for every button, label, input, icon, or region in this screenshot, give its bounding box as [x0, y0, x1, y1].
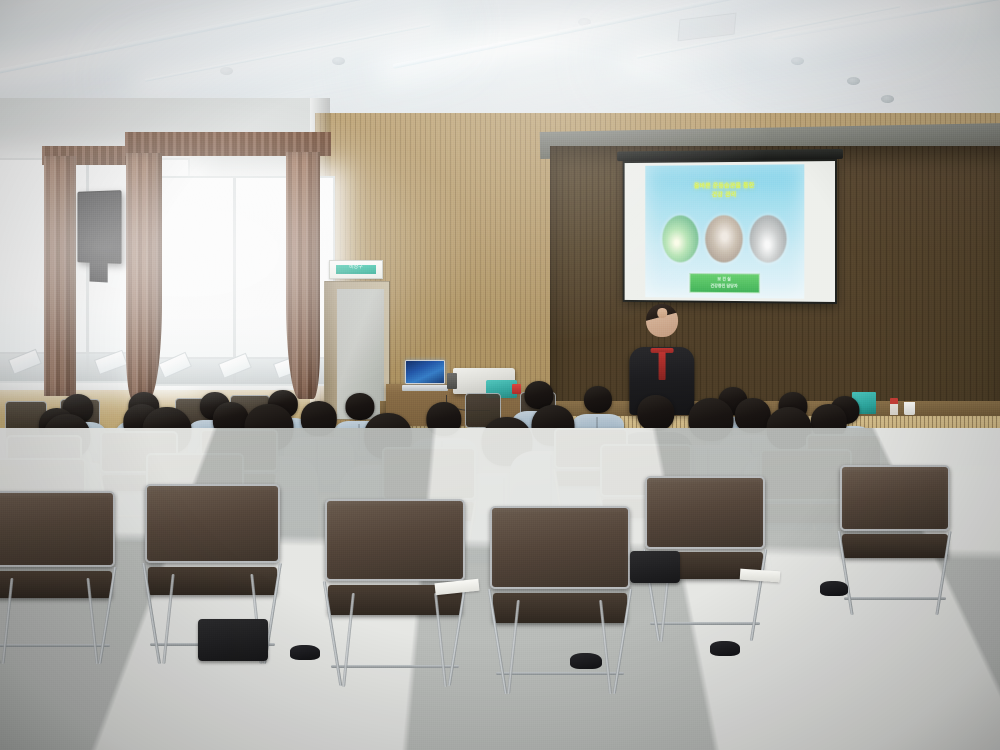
ceiling-speaker-icon [220, 67, 233, 75]
presenter-placket [659, 352, 666, 380]
curtain-panel [286, 152, 320, 400]
curtain-panel [126, 153, 162, 401]
folding-chair[interactable] [0, 491, 115, 664]
oval-image-center [706, 215, 743, 263]
auditorium-photo: 비상구 올바른 운동습관을 통한 건강 관리 보 건 실 건강증진 담당자 [0, 0, 1000, 750]
chair-seat [842, 534, 948, 558]
chair-back [145, 484, 280, 563]
chair-seat [148, 567, 278, 596]
chair-rail [764, 554, 849, 557]
person-head [689, 398, 734, 441]
oval-image-right [750, 215, 788, 263]
laptop-keyboard [402, 385, 448, 392]
projection-screen: 올바른 운동습관을 통한 건강 관리 보 건 실 건강증진 담당자 [623, 159, 837, 304]
oval-image-left [662, 215, 699, 263]
chair-back [0, 491, 115, 567]
chair-back [325, 499, 465, 582]
laptop-computer[interactable] [402, 360, 448, 391]
chair-rail [496, 672, 625, 675]
screen-surface: 올바른 운동습관을 통한 건강 관리 보 건 실 건강증진 담당자 [623, 159, 837, 304]
ceiling-speaker-icon [881, 95, 894, 103]
chair-seat [0, 571, 112, 599]
presenter-head [646, 304, 678, 337]
ceiling-light-fixture [0, 0, 428, 93]
slide-footer-box: 보 건 실 건강증진 담당자 [689, 273, 759, 293]
exit-sign: 비상구 [329, 260, 383, 279]
slide-image-row [656, 215, 793, 263]
laptop-screen [405, 360, 445, 384]
chair-rail [331, 665, 460, 668]
folding-chair[interactable] [840, 465, 950, 615]
person-head [767, 407, 812, 450]
window-mullion [233, 178, 236, 384]
ceiling-speaker-icon [847, 77, 860, 85]
chair-back [382, 447, 476, 500]
slide-title-line-2: 건강 관리 [650, 191, 800, 201]
ceiling-speaker-icon [791, 57, 804, 65]
ceiling-speaker-icon [332, 57, 345, 65]
chair-rail [650, 622, 760, 625]
slide-footer-line-2: 건강증진 담당자 [690, 283, 758, 290]
slide-title: 올바른 운동습관을 통한 건강 관리 [650, 182, 800, 201]
shoe [290, 645, 320, 660]
chair-back [760, 449, 852, 502]
red-bottle [890, 398, 898, 415]
shoe [820, 581, 848, 595]
presentation-slide: 올바른 운동습관을 통한 건강 관리 보 건 실 건강증진 담당자 [645, 164, 805, 298]
chair-rail [844, 597, 945, 600]
shoe [570, 653, 602, 670]
folding-chair[interactable] [760, 449, 852, 569]
exit-sign-label: 비상구 [336, 265, 377, 275]
folding-chair[interactable] [490, 506, 630, 694]
chair-back [490, 506, 630, 589]
chair-back [840, 465, 950, 531]
shoe [710, 641, 740, 656]
curtain-panel [44, 156, 76, 396]
chair-back [645, 476, 765, 549]
backpack-on-floor [198, 619, 268, 661]
chair-seat [493, 593, 627, 623]
wall-speaker-icon [77, 190, 121, 264]
chair-seat [762, 504, 850, 523]
white-cup [904, 402, 915, 415]
backpack-on-floor [630, 551, 680, 582]
presenter-face [657, 308, 667, 318]
ceiling-light-fixture [637, 4, 902, 59]
